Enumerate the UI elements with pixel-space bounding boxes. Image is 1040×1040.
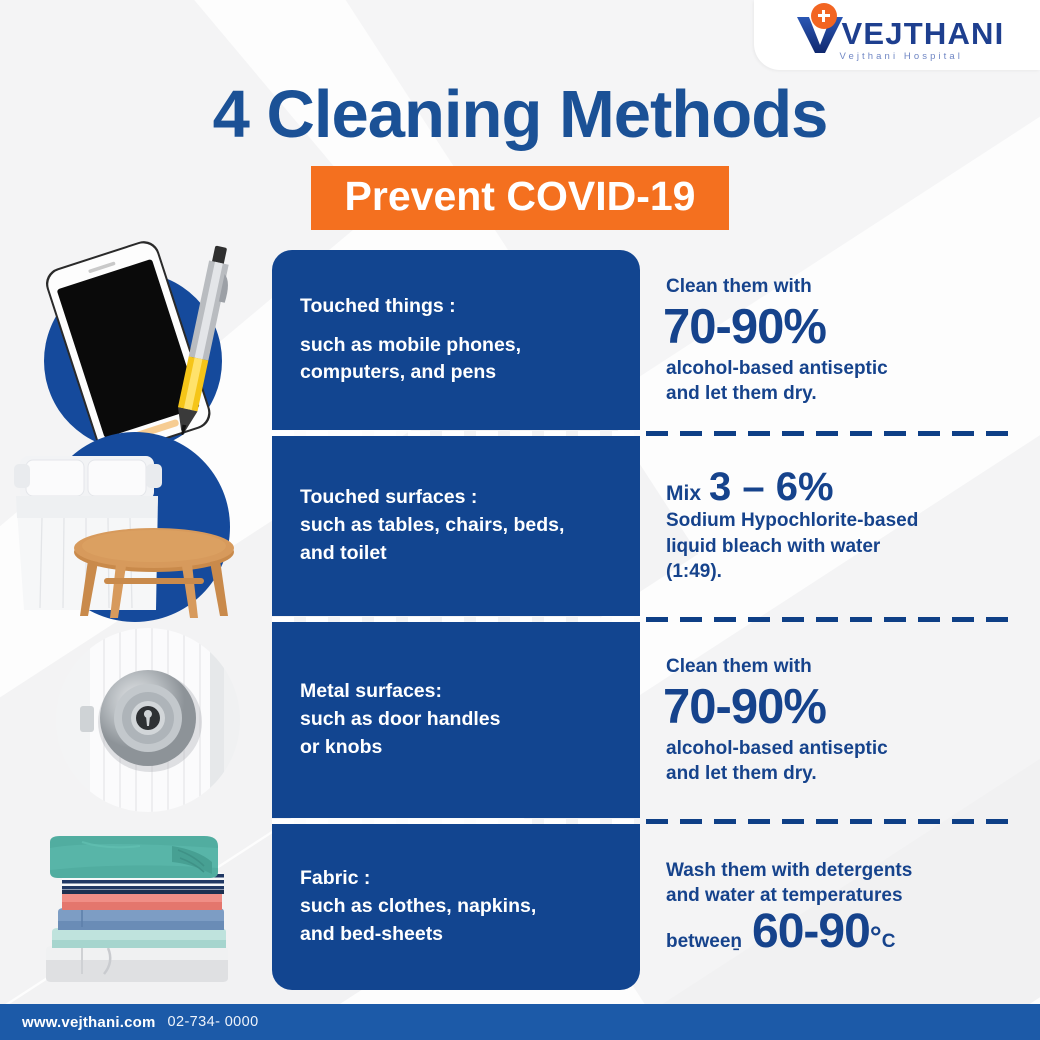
method-row: Touched things : such as mobile phones, … [0, 250, 1040, 430]
method-label-body-line1: such as clothes, napkins, [300, 893, 640, 921]
footer-bar: www.vejthani.com 02-734- 0000 [0, 1004, 1040, 1040]
instruction-value: 60-90 [752, 908, 870, 956]
footer-website[interactable]: www.vejthani.com [22, 1014, 156, 1031]
method-instruction: Clean them with 70-90% alcohol-based ant… [640, 250, 1040, 430]
infographic-page: VEJTHANI Vejthani Hospital 4 Cleaning Me… [0, 0, 1040, 1040]
method-label-title: Fabric : [300, 865, 640, 893]
instruction-detail-line1: Wash them with detergents [666, 858, 1022, 883]
method-label-body-line2: computers, and pens [300, 359, 640, 387]
instruction-detail-line2: and let them dry. [666, 381, 1022, 406]
instruction-prefix: betweeṉ [666, 931, 742, 953]
method-label-title: Touched surfaces : [300, 484, 640, 512]
method-label-body-line2: or knobs [300, 734, 640, 762]
method-label-body-line1: such as door handles [300, 706, 640, 734]
instruction-prefix: Mix [666, 482, 701, 506]
methods-list: Touched things : such as mobile phones, … [0, 250, 1040, 990]
instruction-detail-line2: liquid bleach with water [666, 534, 1022, 559]
method-instruction: Clean them with 70-90% alcohol-based ant… [640, 622, 1040, 818]
temperature-unit: C [882, 931, 896, 953]
instruction-lead: Clean them with [666, 654, 1022, 679]
method-label-title: Metal surfaces: [300, 678, 640, 706]
row-image-cell [0, 824, 272, 990]
instruction-value: 70-90% [663, 301, 1022, 354]
method-row: Fabric : such as clothes, napkins, and b… [0, 824, 1040, 990]
page-title: 4 Cleaning Methods [0, 76, 1040, 153]
degree-symbol: ° [870, 921, 882, 955]
method-row: Touched surfaces : such as tables, chair… [0, 436, 1040, 616]
instruction-detail-line2: and let them dry. [666, 761, 1022, 786]
instruction-lead: Clean them with [666, 274, 1022, 299]
method-label-panel: Fabric : such as clothes, napkins, and b… [272, 824, 640, 990]
row-image-cell [0, 250, 272, 430]
brand-logo: VEJTHANI Vejthani Hospital [754, 0, 1040, 70]
method-label-panel: Metal surfaces: such as door handles or … [272, 622, 640, 818]
instruction-value: 3 – 6% [709, 467, 834, 507]
instruction-detail-line3: (1:49). [666, 559, 1022, 584]
row-image-cell [0, 622, 272, 818]
footer-phone[interactable]: 02-734- 0000 [168, 1014, 259, 1030]
folded-clothes-icon [22, 828, 262, 988]
logo-v-mark-icon [794, 9, 846, 49]
page-subtitle: Prevent COVID-19 [311, 166, 730, 230]
method-label-body-line1: such as mobile phones, [300, 332, 640, 360]
smartphone-and-pen-icon [18, 228, 268, 448]
row-image-cell [0, 436, 272, 616]
method-label-body-line2: and bed-sheets [300, 921, 640, 949]
subtitle-banner: Prevent COVID-19 [0, 166, 1040, 230]
instruction-detail-line1: alcohol-based antiseptic [666, 356, 1022, 381]
instruction-value: 70-90% [663, 681, 1022, 734]
bed-and-table-icon [6, 434, 266, 624]
method-label-body-line2: and toilet [300, 540, 640, 568]
instruction-detail-line1: Sodium Hypochlorite-based [666, 508, 1022, 533]
method-label-panel: Touched surfaces : such as tables, chair… [272, 436, 640, 616]
method-row: Metal surfaces: such as door handles or … [0, 622, 1040, 818]
method-instruction: Wash them with detergents and water at t… [640, 824, 1040, 990]
method-instruction: Mix 3 – 6% Sodium Hypochlorite-based liq… [640, 436, 1040, 616]
method-label-body-line1: such as tables, chairs, beds, [300, 512, 640, 540]
medical-cross-icon [811, 3, 837, 29]
logo-wordmark: VEJTHANI [842, 18, 1005, 49]
logo-tagline: Vejthani Hospital [840, 51, 963, 62]
method-label-title: Touched things : [300, 293, 640, 321]
instruction-detail-line1: alcohol-based antiseptic [666, 736, 1022, 761]
method-label-panel: Touched things : such as mobile phones, … [272, 250, 640, 430]
door-knob-icon [30, 622, 260, 818]
